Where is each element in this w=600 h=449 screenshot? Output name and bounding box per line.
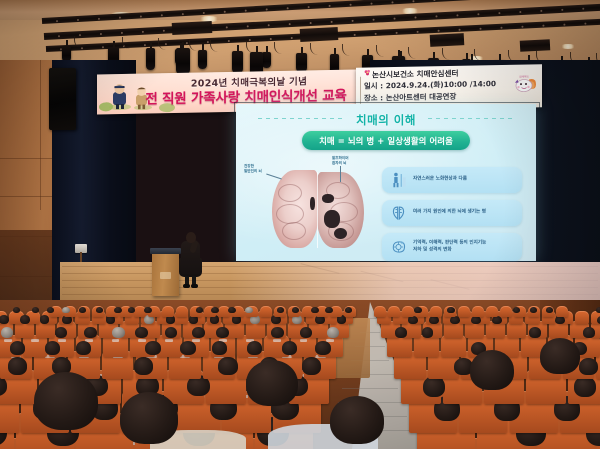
audience-head [292, 307, 300, 314]
seat [387, 335, 412, 357]
audience-head [47, 307, 55, 314]
seat-number-plate [58, 339, 66, 342]
audience-head [20, 315, 30, 324]
presenter-shoe [191, 284, 198, 288]
podium-top [150, 248, 181, 254]
truss-block [172, 21, 213, 35]
seat-number-plate [4, 339, 12, 342]
slide-bullet-text: 여러 가지 원인에 의한 뇌에 생기는 병 [413, 210, 517, 217]
audience-head [1, 327, 13, 338]
audience-head [0, 315, 9, 324]
seat-number-plate [273, 339, 281, 342]
audience-head [145, 341, 161, 355]
aisle-step [342, 388, 398, 389]
audience-head [414, 307, 421, 313]
seat-number-plate [138, 339, 146, 342]
seat-number-plate [300, 339, 308, 342]
seat [388, 306, 400, 317]
brain-comparison-image [272, 170, 364, 248]
podium-emblem [160, 272, 171, 279]
elderly-person-icon [390, 172, 407, 189]
truss-block [300, 27, 339, 42]
seat [374, 306, 386, 317]
audience-head [8, 357, 27, 374]
lighting-cable [474, 49, 489, 61]
auditorium-photo: 2024년 치매극복의날 기념 전 직원 가족사랑 치매인식개선 교육 논산시보… [0, 0, 600, 449]
audience-head [529, 327, 541, 338]
stage-spotlight [146, 48, 155, 70]
audience-head [134, 357, 153, 374]
seat [458, 306, 470, 317]
lighting-cable [408, 47, 423, 59]
audience-head [55, 327, 67, 338]
lighting-cable [442, 48, 457, 60]
audience-head [300, 327, 312, 338]
lighting-cable [122, 37, 137, 49]
audience-head [40, 315, 50, 324]
brain-icon [390, 205, 407, 222]
audience-head [395, 327, 407, 338]
stage-spotlight [232, 51, 243, 73]
stage-spotlight [262, 52, 271, 68]
audience-head [574, 376, 596, 396]
ceiling-downlight [560, 44, 576, 49]
presenter-head [186, 232, 196, 243]
audience-head [228, 307, 236, 314]
audience-head [271, 327, 283, 338]
audience-head [277, 307, 285, 314]
presenter-shoe [183, 284, 190, 288]
audience-head [596, 307, 600, 313]
seat [441, 335, 466, 357]
seat [176, 306, 188, 317]
info-panel-date: 일시 : 2024.9.24.(화)10:00 /14:00 [364, 78, 496, 92]
stage-spotlight-large [176, 48, 190, 74]
audience-head [128, 307, 136, 314]
slide-bullet-text: 기억력, 이해력, 판단력 등의 인지기능저하 및 성격의 변화 [413, 240, 517, 253]
lighting-cable [74, 36, 89, 48]
audience-head [165, 327, 177, 338]
audience-head [315, 341, 331, 355]
seat [260, 306, 272, 317]
audience-head [96, 307, 104, 314]
audience-head [45, 341, 61, 355]
truss-block [520, 39, 551, 52]
seat [402, 306, 414, 317]
audience-head [144, 307, 152, 314]
slide-key-pill: 치매 = 뇌의 병 + 일상생활의 어려움 [302, 131, 470, 150]
brain-midline [317, 172, 318, 248]
brain-label-left: 건강한일반인의 뇌 [244, 164, 262, 174]
audience-head [218, 357, 237, 374]
audience-head [247, 341, 263, 355]
seat-number-plate [192, 339, 200, 342]
seat [103, 335, 128, 357]
seat [472, 306, 484, 317]
seat-number-plate [112, 339, 120, 342]
audience-head [76, 341, 92, 355]
audience-head [211, 307, 219, 314]
seat [430, 306, 442, 317]
lighting-cable [210, 40, 225, 52]
seat [575, 311, 589, 324]
audience-head [423, 376, 445, 396]
wall-seam-vertical [40, 60, 41, 210]
audience-head-foreground [246, 360, 298, 406]
seat [486, 306, 498, 317]
audience-head [135, 327, 147, 338]
seat [556, 306, 568, 317]
projection-screen: 치매의 이해 치매 = 뇌의 병 + 일상생활의 어려움 건강한일반인의 뇌 알… [236, 104, 536, 261]
audience-head [311, 307, 319, 314]
svg-text:함께해요: 함께해요 [519, 74, 529, 78]
audience-head [422, 327, 434, 338]
audience-head [84, 327, 96, 338]
truss-block [430, 33, 465, 47]
slide-bullet-card: 기억력, 이해력, 판단력 등의 인지기능저하 및 성격의 변화 [382, 233, 522, 261]
head-gear-icon [390, 239, 407, 256]
slide-bullet-card: 자연스러운 노화현상과 다름 [382, 167, 522, 193]
audience-head [245, 307, 253, 314]
stage-spotlight [198, 50, 207, 69]
audience-head [447, 307, 454, 313]
slide-key-pill-text: 치매 = 뇌의 병 + 일상생활의 어려움 [302, 135, 470, 147]
audience-head [579, 358, 597, 375]
audience-head [212, 341, 228, 355]
audience-head-foreground [330, 396, 384, 444]
seat-number-plate [31, 339, 39, 342]
seat-number-plate [165, 339, 173, 342]
audience-head [112, 327, 124, 338]
seat [414, 335, 439, 357]
audience-head [302, 357, 321, 374]
flower-icon [364, 69, 371, 76]
seat [162, 306, 174, 317]
audience-head [192, 327, 204, 338]
seat [23, 335, 48, 357]
audience-head [345, 307, 353, 314]
audience-head [114, 307, 122, 314]
audience-head-foreground [34, 372, 98, 430]
lighting-cable [158, 38, 173, 50]
audience-head [530, 307, 537, 313]
pa-speaker [49, 68, 76, 130]
audience-head [216, 327, 228, 338]
mascot-icon: 함께해요 [512, 72, 538, 98]
audience-head-foreground [470, 350, 514, 390]
seat [500, 306, 512, 317]
slide-bullet-text: 자연스러운 노화현상과 다름 [413, 177, 517, 184]
audience-head-foreground [540, 338, 580, 374]
slide-title: 치매의 이해 [236, 112, 536, 128]
audience-head-foreground [120, 392, 178, 444]
audience-head [196, 307, 204, 314]
audience-head [327, 327, 339, 338]
audience-head [180, 341, 196, 355]
slide-bullet-card: 여러 가지 원인에 의한 뇌에 생기는 병 [382, 200, 522, 226]
audience-head [325, 307, 333, 314]
audience-head [583, 327, 595, 338]
brain-label-right: 알츠하이머환자의 뇌 [332, 156, 349, 166]
audience-head [62, 307, 70, 314]
audience-head [282, 341, 298, 355]
audience-head [10, 341, 26, 355]
